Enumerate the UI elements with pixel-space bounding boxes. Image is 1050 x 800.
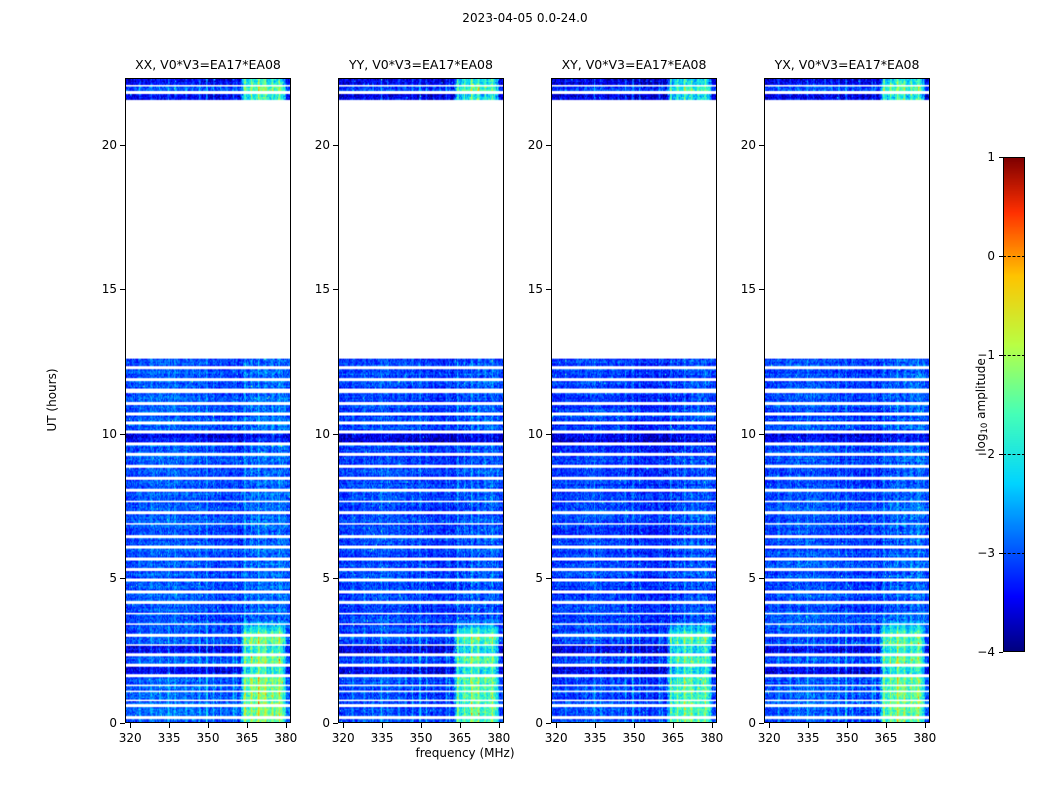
panel-yy-axes[interactable] (338, 78, 504, 723)
panel-xy-xtick-350 (634, 723, 635, 728)
panel-yy-xtick-label-380: 380 (487, 731, 510, 745)
colorbar-gradient[interactable] (1003, 157, 1025, 652)
panel-yy-ytick-20 (333, 145, 338, 146)
panel-yx-title: YX, V0*V3=EA17*EA08 (764, 57, 930, 72)
panel-xy-xtick-335 (595, 723, 596, 728)
panel-xx-ytick-label-10: 10 (102, 427, 117, 441)
y-axis-label: UT (hours) (45, 368, 59, 431)
panel-yx-ytick-label-5: 5 (748, 571, 756, 585)
colorbar-tick-label--3: −3 (977, 546, 995, 560)
panel-yx-xtick-label-350: 350 (836, 731, 859, 745)
panel-yx: YX, V0*V3=EA17*EA08051015203203353503653… (764, 78, 930, 723)
panel-xx-ytick-0 (120, 723, 125, 724)
panel-xy-xtick-label-320: 320 (545, 731, 568, 745)
panel-xy-ytick-label-0: 0 (535, 716, 543, 730)
panel-yy-spectrogram (339, 79, 503, 722)
panel-xx: XX, V0*V3=EA17*EA08051015203203353503653… (125, 78, 291, 723)
panel-yy-xtick-335 (382, 723, 383, 728)
panel-yx-ytick-5 (759, 578, 764, 579)
panel-yy-title: YY, V0*V3=EA17*EA08 (338, 57, 504, 72)
panel-yx-spectrogram (765, 79, 929, 722)
panel-yy-xtick-label-335: 335 (371, 731, 394, 745)
colorbar-tick-label-0: 0 (987, 249, 995, 263)
panel-xy-ytick-0 (546, 723, 551, 724)
panel-xx-ytick-label-5: 5 (109, 571, 117, 585)
panel-xx-ytick-label-0: 0 (109, 716, 117, 730)
panel-xx-xtick-320 (130, 723, 131, 728)
colorbar-label-suffix: amplitude (974, 358, 988, 422)
panel-xx-ytick-label-15: 15 (102, 282, 117, 296)
panel-yx-xtick-365 (886, 723, 887, 728)
panel-xy-ytick-5 (546, 578, 551, 579)
panel-yx-ytick-label-15: 15 (741, 282, 756, 296)
colorbar-tick-label--4: −4 (977, 645, 995, 659)
panel-xy-xtick-label-350: 350 (623, 731, 646, 745)
panel-yx-xtick-label-335: 335 (797, 731, 820, 745)
panel-yx-xtick-label-365: 365 (874, 731, 897, 745)
colorbar-label-subscript: 10 (980, 423, 990, 434)
panel-xy-title: XY, V0*V3=EA17*EA08 (551, 57, 717, 72)
panel-yy-ytick-label-5: 5 (322, 571, 330, 585)
panel-xx-spectrogram (126, 79, 290, 722)
panel-xy-ytick-label-10: 10 (528, 427, 543, 441)
panel-yx-ytick-label-0: 0 (748, 716, 756, 730)
panel-xy-xtick-label-380: 380 (700, 731, 723, 745)
panel-yy-xtick-365 (460, 723, 461, 728)
panel-yy-ytick-10 (333, 434, 338, 435)
panel-yx-xtick-380 (925, 723, 926, 728)
panel-yx-ytick-15 (759, 289, 764, 290)
panel-xx-ytick-20 (120, 145, 125, 146)
panel-xx-xtick-350 (208, 723, 209, 728)
colorbar-tickmark--1 (999, 355, 1003, 356)
panel-xx-xtick-label-380: 380 (274, 731, 297, 745)
panel-yy-ytick-5 (333, 578, 338, 579)
figure-suptitle: 2023-04-05 0.0-24.0 (0, 11, 1050, 25)
panel-yx-ytick-label-20: 20 (741, 138, 756, 152)
panel-yx-axes[interactable] (764, 78, 930, 723)
x-axis-label: frequency (MHz) (0, 746, 930, 760)
panel-yx-xtick-350 (847, 723, 848, 728)
panel-xy-ytick-15 (546, 289, 551, 290)
colorbar-axis-label: log10 amplitude (974, 358, 988, 452)
panel-xy-xtick-380 (712, 723, 713, 728)
panel-yy-xtick-label-320: 320 (332, 731, 355, 745)
panel-xy-xtick-320 (556, 723, 557, 728)
panel-xx-ytick-15 (120, 289, 125, 290)
panel-yx-ytick-20 (759, 145, 764, 146)
panel-yy-ytick-label-10: 10 (315, 427, 330, 441)
panel-xy-xtick-label-365: 365 (661, 731, 684, 745)
panel-yy-xtick-label-350: 350 (410, 731, 433, 745)
colorbar-tick-label-1: 1 (987, 150, 995, 164)
panel-xx-title: XX, V0*V3=EA17*EA08 (125, 57, 291, 72)
panel-xx-xtick-label-365: 365 (235, 731, 258, 745)
panel-yy-xtick-350 (421, 723, 422, 728)
colorbar-tickmark--4 (999, 652, 1003, 653)
panel-yy-xtick-label-365: 365 (448, 731, 471, 745)
panel-xy-axes[interactable] (551, 78, 717, 723)
colorbar-label-prefix: log (974, 433, 988, 451)
panel-xy-ytick-label-5: 5 (535, 571, 543, 585)
panel-yy-xtick-320 (343, 723, 344, 728)
panel-yx-ytick-label-10: 10 (741, 427, 756, 441)
panel-xx-xtick-label-350: 350 (197, 731, 220, 745)
panel-xy-xtick-365 (673, 723, 674, 728)
panel-xy-spectrogram (552, 79, 716, 722)
colorbar-tickmark-0 (999, 256, 1003, 257)
panel-yy-xtick-380 (499, 723, 500, 728)
panel-yy-ytick-label-20: 20 (315, 138, 330, 152)
figure-canvas: 2023-04-05 0.0-24.0 XX, V0*V3=EA17*EA080… (0, 0, 1050, 800)
panel-xx-xtick-335 (169, 723, 170, 728)
panel-xx-axes[interactable] (125, 78, 291, 723)
panel-xy-ytick-20 (546, 145, 551, 146)
panel-xx-xtick-label-335: 335 (158, 731, 181, 745)
panel-xy-ytick-label-20: 20 (528, 138, 543, 152)
panel-yx-xtick-label-320: 320 (758, 731, 781, 745)
panel-yy-ytick-label-0: 0 (322, 716, 330, 730)
panel-yy-ytick-15 (333, 289, 338, 290)
panel-yx-xtick-335 (808, 723, 809, 728)
panel-xx-xtick-365 (247, 723, 248, 728)
panel-xy-ytick-10 (546, 434, 551, 435)
panel-yx-xtick-320 (769, 723, 770, 728)
panel-yx-ytick-0 (759, 723, 764, 724)
panel-xy-xtick-label-335: 335 (584, 731, 607, 745)
colorbar-container: −4−3−2−101 (1003, 157, 1025, 652)
panel-xy: XY, V0*V3=EA17*EA08051015203203353503653… (551, 78, 717, 723)
panel-yy: YY, V0*V3=EA17*EA08051015203203353503653… (338, 78, 504, 723)
panel-xx-ytick-label-20: 20 (102, 138, 117, 152)
panel-xy-ytick-label-15: 15 (528, 282, 543, 296)
colorbar-tickmark--3 (999, 553, 1003, 554)
panel-xx-xtick-380 (286, 723, 287, 728)
panel-yx-xtick-label-380: 380 (913, 731, 936, 745)
colorbar-tickmark--2 (999, 454, 1003, 455)
panel-yx-ytick-10 (759, 434, 764, 435)
panel-yy-ytick-label-15: 15 (315, 282, 330, 296)
panel-xx-ytick-5 (120, 578, 125, 579)
panel-yy-ytick-0 (333, 723, 338, 724)
panel-xx-xtick-label-320: 320 (119, 731, 142, 745)
colorbar-tickmark-1 (999, 157, 1003, 158)
panel-xx-ytick-10 (120, 434, 125, 435)
